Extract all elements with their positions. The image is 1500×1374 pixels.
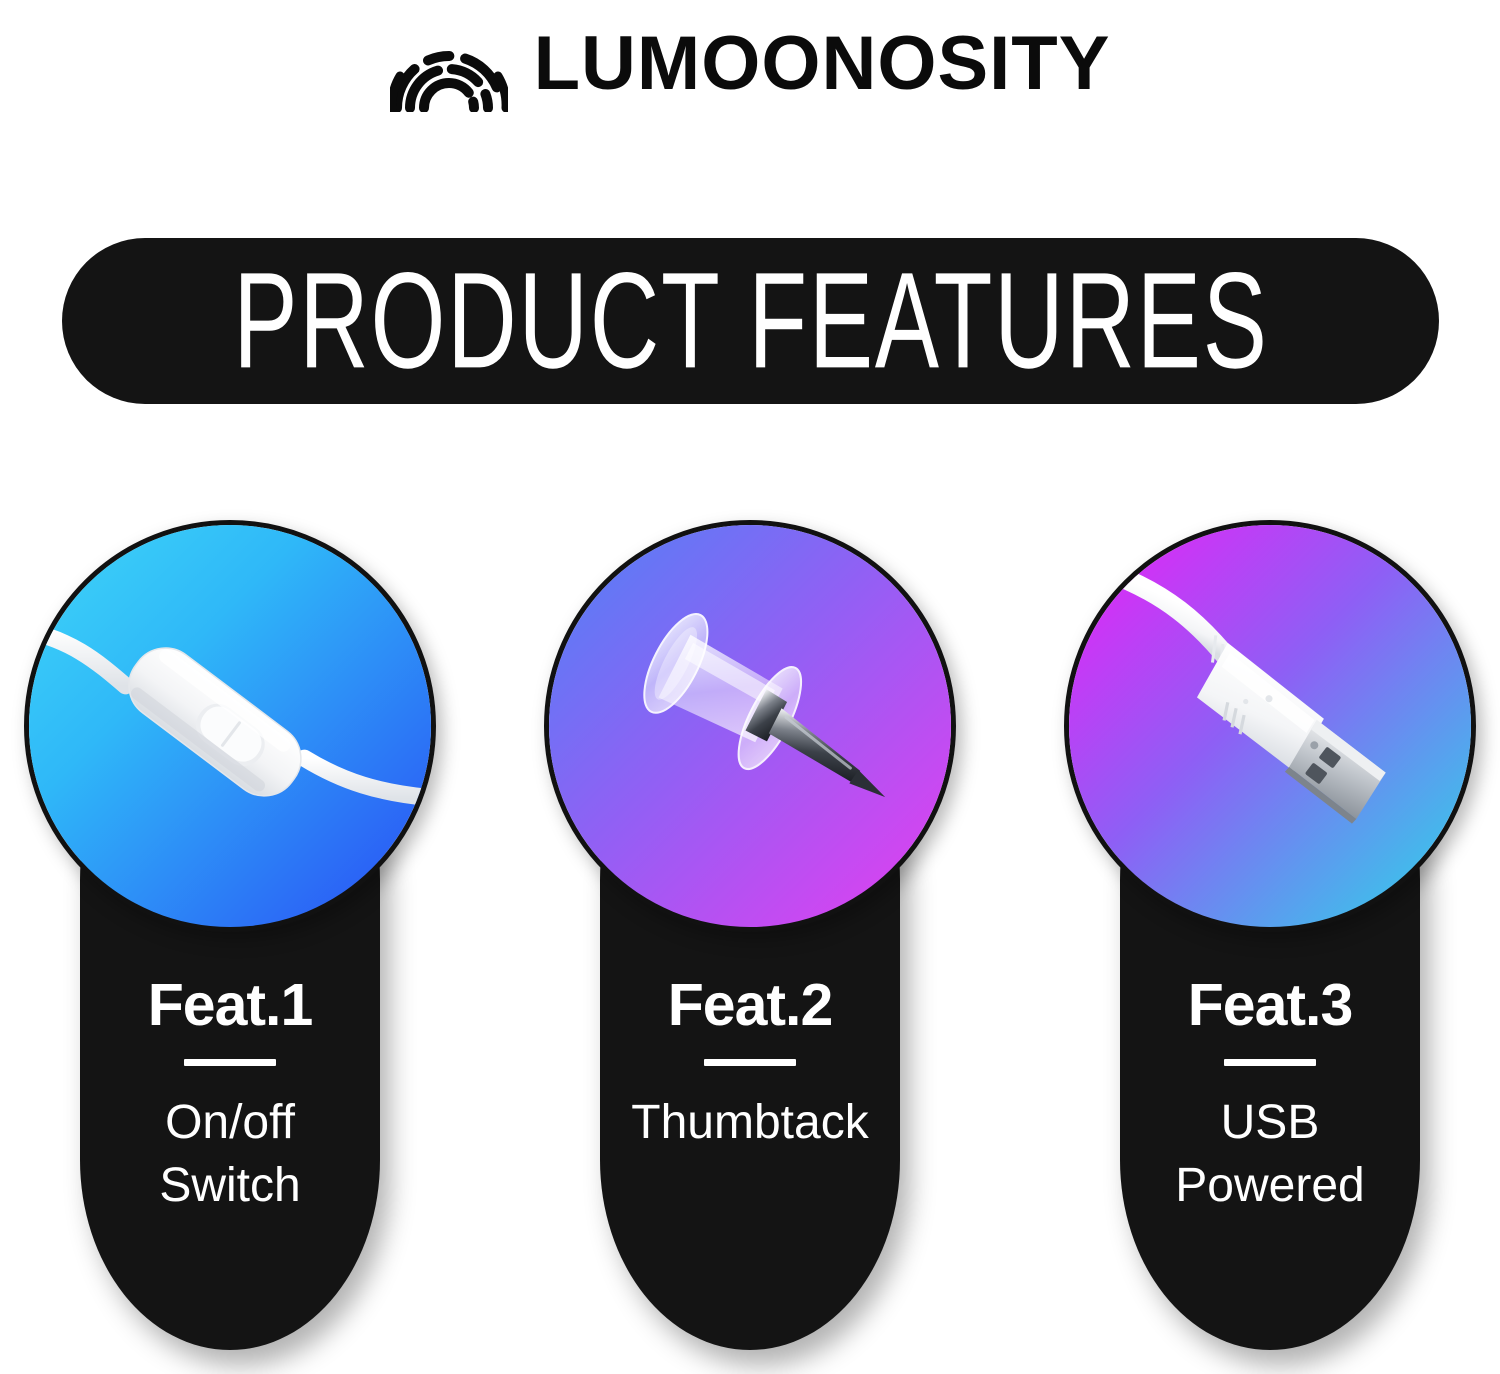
feature-card-2-divider	[704, 1059, 796, 1066]
feature-card-2-label: Feat.2	[600, 975, 900, 1035]
feature-card-1-image	[24, 520, 436, 932]
feature-card-3-text: Feat.3 USB Powered	[1120, 975, 1420, 1217]
brand-name: LUMOONOSITY	[534, 26, 1111, 102]
feature-card-3-label: Feat.3	[1120, 975, 1420, 1035]
feature-card-1-description-line-1: On/off	[80, 1092, 380, 1154]
feature-card-3-image	[1064, 520, 1476, 932]
feature-card-1-divider	[184, 1059, 276, 1066]
feature-card-3-description-line-1: USB	[1120, 1092, 1420, 1154]
features-row: Feat.1 On/off Switch	[0, 520, 1500, 1370]
feature-card-1-text: Feat.1 On/off Switch	[80, 975, 380, 1217]
feature-card-1-description: On/off Switch	[80, 1092, 380, 1217]
product-features-infographic: LUMOONOSITY PRODUCT FEATURES	[0, 0, 1500, 1374]
feature-card-1[interactable]: Feat.1 On/off Switch	[24, 520, 436, 1360]
feature-card-3[interactable]: Feat.3 USB Powered	[1064, 520, 1476, 1360]
feature-card-2-image	[544, 520, 956, 932]
feature-card-3-description: USB Powered	[1120, 1092, 1420, 1217]
feature-card-2-text: Feat.2 Thumbtack	[600, 975, 900, 1155]
feature-card-2-description-line-1: Thumbtack	[600, 1092, 900, 1154]
feature-card-1-label: Feat.1	[80, 975, 380, 1035]
page-title: PRODUCT FEATURES	[233, 253, 1268, 390]
concentric-arcs-moon-icon	[390, 16, 508, 112]
brand-header: LUMOONOSITY	[0, 14, 1500, 114]
feature-card-1-description-line-2: Switch	[80, 1155, 380, 1217]
feature-card-2[interactable]: Feat.2 Thumbtack	[544, 520, 956, 1360]
feature-card-3-divider	[1224, 1059, 1316, 1066]
feature-card-2-description: Thumbtack	[600, 1092, 900, 1154]
page-title-banner: PRODUCT FEATURES	[62, 238, 1439, 404]
feature-card-3-description-line-2: Powered	[1120, 1155, 1420, 1217]
